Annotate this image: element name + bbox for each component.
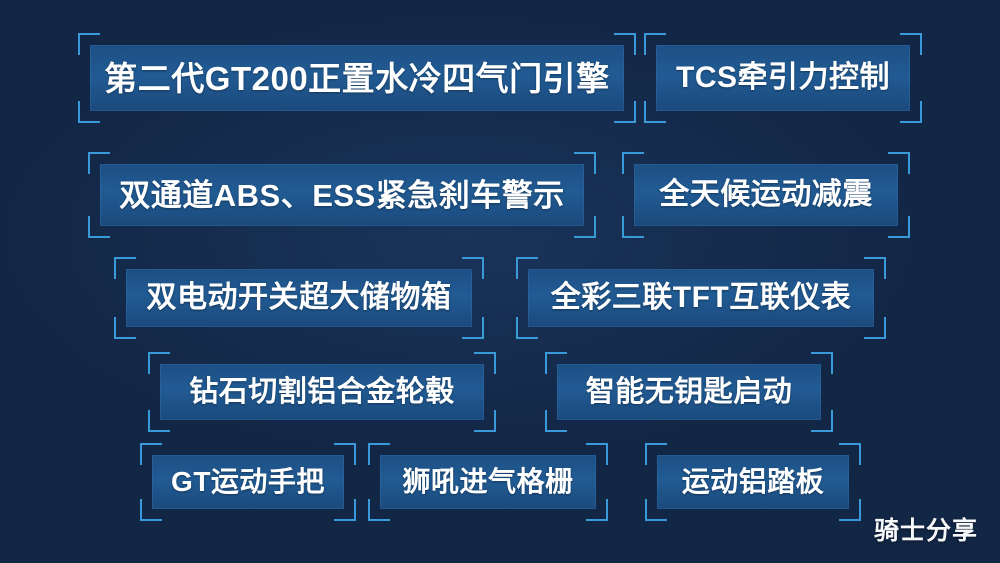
feature-label: 全彩三联TFT互联仪表 xyxy=(551,283,851,313)
feature-label: GT运动手把 xyxy=(171,468,325,496)
feature-chip[interactable]: 钻石切割铝合金轮毂 xyxy=(148,352,496,432)
feature-label: 钻石切割铝合金轮毂 xyxy=(189,378,455,407)
feature-chip[interactable]: TCS牵引力控制 xyxy=(644,33,922,123)
feature-pill: 双电动开关超大储物箱 xyxy=(126,269,472,327)
feature-pill: 双通道ABS、ESS紧急刹车警示 xyxy=(100,164,584,226)
feature-pill: 钻石切割铝合金轮毂 xyxy=(160,364,484,420)
feature-label: 第二代GT200正置水冷四气门引擎 xyxy=(104,62,609,95)
feature-label: TCS牵引力控制 xyxy=(676,63,890,93)
feature-board: 第二代GT200正置水冷四气门引擎 TCS牵引力控制 双通道ABS、ESS紧急刹… xyxy=(0,0,1000,563)
feature-chip[interactable]: 双通道ABS、ESS紧急刹车警示 xyxy=(88,152,596,238)
feature-chip[interactable]: 智能无钥匙启动 xyxy=(545,352,833,432)
feature-pill: GT运动手把 xyxy=(152,455,344,509)
feature-chip[interactable]: 狮吼进气格栅 xyxy=(368,443,608,521)
feature-chip[interactable]: 运动铝踏板 xyxy=(645,443,861,521)
feature-label: 双通道ABS、ESS紧急刹车警示 xyxy=(119,180,564,211)
feature-pill: 智能无钥匙启动 xyxy=(557,364,821,420)
feature-label: 全天候运动减震 xyxy=(659,180,873,210)
feature-label: 狮吼进气格栅 xyxy=(402,468,573,496)
feature-chip[interactable]: 第二代GT200正置水冷四气门引擎 xyxy=(78,33,636,123)
feature-pill: 第二代GT200正置水冷四气门引擎 xyxy=(90,45,624,111)
feature-pill: 全彩三联TFT互联仪表 xyxy=(528,269,874,327)
feature-label: 运动铝踏板 xyxy=(682,468,825,496)
feature-label: 双电动开关超大储物箱 xyxy=(147,283,452,313)
watermark: 骑士分享 xyxy=(874,511,978,547)
feature-chip[interactable]: 全彩三联TFT互联仪表 xyxy=(516,257,886,339)
feature-pill: TCS牵引力控制 xyxy=(656,45,910,111)
feature-pill: 全天候运动减震 xyxy=(634,164,898,226)
feature-pill: 狮吼进气格栅 xyxy=(380,455,596,509)
feature-chip[interactable]: 双电动开关超大储物箱 xyxy=(114,257,484,339)
feature-pill: 运动铝踏板 xyxy=(657,455,849,509)
feature-chip[interactable]: GT运动手把 xyxy=(140,443,356,521)
feature-label: 智能无钥匙启动 xyxy=(586,378,793,407)
feature-chip[interactable]: 全天候运动减震 xyxy=(622,152,910,238)
